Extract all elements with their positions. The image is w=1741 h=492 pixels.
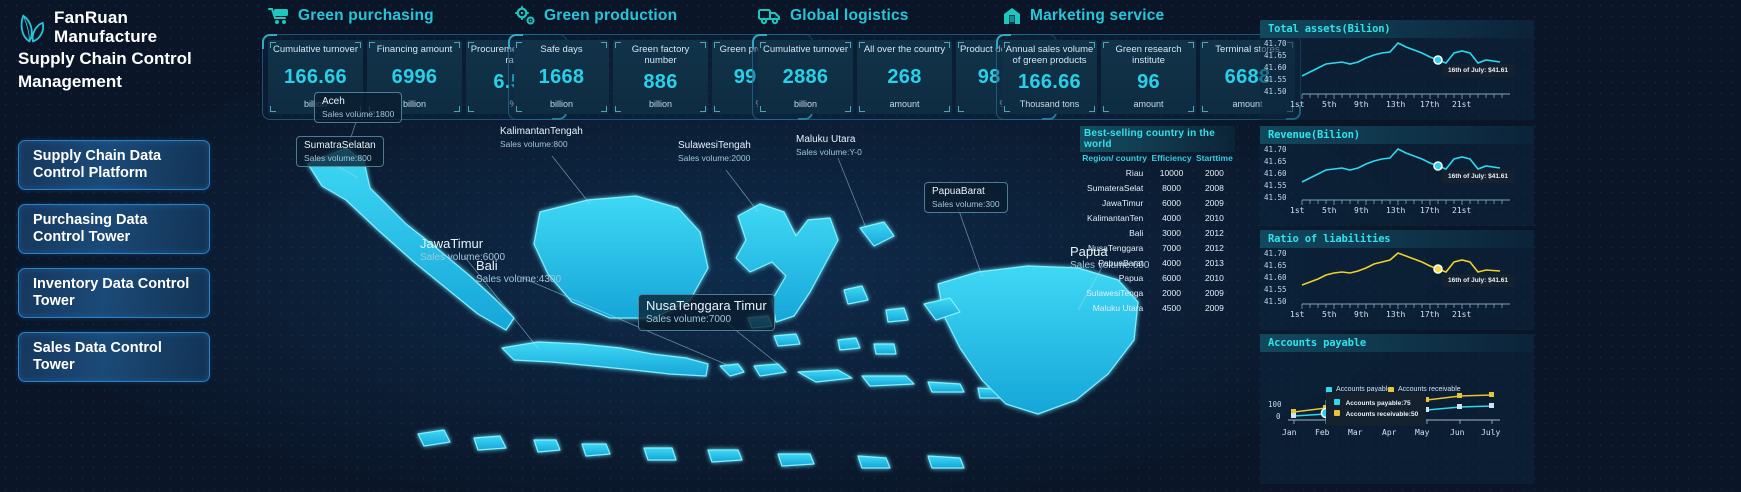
chart-panel-total-assets: Total assets(Bilion) 41.70 41.65 41.60 4… [1260, 20, 1534, 120]
cell-starttime: 2010 [1194, 210, 1235, 225]
kpi-value: 1668 [539, 66, 585, 89]
tooltip-line-payable: Accounts payable:75 [1334, 398, 1418, 409]
leaf-icon [18, 12, 48, 46]
kpi-group-title: Global logistics [790, 7, 909, 25]
map-label-maluku-utara[interactable]: Maluku Utara Sales volume:Y-0 [796, 134, 862, 157]
kpi-value: 886 [643, 71, 677, 94]
sidebar-item-supply-chain-data-control-platform[interactable]: Supply Chain Data Control Platform [18, 140, 210, 190]
cell-starttime: 2010 [1194, 270, 1235, 285]
y-tick-label: 41.65 [1264, 51, 1287, 60]
sidebar-item-inventory-data-control-tower[interactable]: Inventory Data Control Tower [18, 268, 210, 318]
y-tick-label: 41.60 [1264, 169, 1287, 178]
y-tick-label: 0 [1276, 412, 1281, 421]
chart-marker [1434, 162, 1442, 170]
cell-efficiency: 10000 [1149, 165, 1194, 180]
x-tick-label: 17th [1420, 206, 1439, 215]
sidebar-nav: Supply Chain Data Control Platform Purch… [18, 140, 210, 396]
gears-icon [514, 6, 536, 26]
chart-marker [1434, 56, 1442, 64]
kpi-value: 268 [887, 66, 921, 89]
chart-tooltip: 16th of July: $41.61 [1442, 170, 1514, 183]
table-row[interactable]: SumateraSelat 8000 2008 [1080, 180, 1235, 195]
kpi-label: All over the country [864, 45, 945, 56]
chart-marker [1434, 265, 1442, 273]
kpi-card-annual-sales-volume-green-products[interactable]: Annual sales volume of green products 16… [1002, 40, 1097, 114]
chart-tooltip: 16th of July: $41.61 [1442, 274, 1514, 287]
kpi-label: Green factory number [616, 45, 705, 67]
table-row[interactable]: Papua 6000 2010 [1080, 270, 1235, 285]
page-title-line1: Supply Chain Control [18, 49, 228, 69]
map-label-papuabarat[interactable]: PapuaBarat Sales volume:300 [924, 182, 1008, 213]
sidebar-item-label: Inventory Data Control Tower [33, 276, 200, 310]
cell-efficiency: 7000 [1149, 240, 1194, 255]
kpi-label: Safe days [540, 45, 582, 56]
x-tick-label: 1st [1290, 206, 1304, 215]
map-label-sub: Sales volume:800 [500, 139, 583, 150]
table-row[interactable]: Bali 3000 2012 [1080, 225, 1235, 240]
kpi-value: 166.66 [284, 66, 347, 89]
cell-starttime: 2008 [1194, 180, 1235, 195]
map-label-aceh[interactable]: Aceh Sales volume:1800 [314, 92, 402, 123]
map-label-name: KalimantanTengah [500, 126, 583, 139]
table-row[interactable]: NusaTenggara 7000 2012 [1080, 240, 1235, 255]
kpi-value: 96 [1137, 71, 1160, 94]
y-tick-label: 41.50 [1264, 297, 1287, 306]
shopping-cart-icon [268, 7, 290, 25]
map-label-name: SumatraSelatan [304, 140, 376, 153]
chart-title: Total assets(Bilion) [1260, 20, 1534, 38]
table-row[interactable]: Maluku Utara 4500 2009 [1080, 300, 1235, 315]
cell-region: Papua [1080, 270, 1149, 285]
cell-starttime: 2012 [1194, 240, 1235, 255]
brand-company-line2: Manufacture [54, 27, 157, 46]
map-label-name: Aceh [322, 96, 394, 109]
kpi-group-marketing-service: Marketing service Annual sales volume of… [996, 2, 1301, 120]
kpi-label: Green research institute [1104, 45, 1193, 67]
cell-efficiency: 3000 [1149, 225, 1194, 240]
cell-starttime: 2013 [1194, 255, 1235, 270]
chart-panel-revenue: Revenue(Bilion) 41.70 41.65 41.60 41.55 … [1260, 126, 1534, 226]
y-tick-label: 41.55 [1264, 181, 1287, 190]
x-tick-label: 13th [1386, 100, 1405, 109]
tooltip-swatch [1334, 410, 1340, 416]
y-tick-label: 41.55 [1264, 75, 1287, 84]
column-header-region: Region/ country [1080, 152, 1149, 165]
sidebar-item-sales-data-control-tower[interactable]: Sales Data Control Tower [18, 332, 210, 382]
sidebar-item-purchasing-data-control-tower[interactable]: Purchasing Data Control Tower [18, 204, 210, 254]
cell-region: NusaTenggara [1080, 240, 1149, 255]
cell-region: Maluku Utara [1080, 300, 1149, 315]
table-header-row: Region/ country Efficiency Starttime [1080, 152, 1235, 165]
map-label-sub: Sales volume:7000 [646, 314, 767, 327]
x-tick-label: 13th [1386, 310, 1405, 319]
kpi-group-header: Marketing service [996, 2, 1301, 30]
map-label-name: Bali [476, 258, 561, 274]
chart-tooltip: Accounts payable:75 Accounts receivable:… [1326, 392, 1426, 426]
x-tick-label: 5th [1322, 206, 1336, 215]
map-label-sub: Sales volume:300 [932, 199, 1000, 210]
kpi-label: Cumulative turnover [273, 45, 358, 56]
sidebar-item-label: Purchasing Data Control Tower [33, 212, 200, 246]
kpi-group-title: Marketing service [1030, 7, 1164, 25]
y-tick-label: 41.55 [1264, 285, 1287, 294]
cell-starttime: 2012 [1194, 225, 1235, 240]
chart-body[interactable]: Accounts payable Accounts receivable 100… [1260, 352, 1534, 484]
x-tick-label: Feb [1315, 428, 1329, 437]
column-header-starttime: Starttime [1194, 152, 1235, 165]
sidebar-item-label: Supply Chain Data Control Platform [33, 148, 200, 182]
warehouse-icon [1002, 6, 1022, 26]
x-tick-label: 17th [1420, 310, 1439, 319]
y-tick-label: 41.70 [1264, 145, 1287, 154]
kpi-card-safe-days[interactable]: Safe days 1668 billion [514, 40, 609, 114]
cell-efficiency: 4000 [1149, 210, 1194, 225]
map-label-sub: Sales volume:800 [304, 153, 376, 164]
kpi-card-all-over-the-country[interactable]: All over the country 268 amount [857, 40, 952, 114]
y-tick-label: 41.50 [1264, 193, 1287, 202]
page-title-line2: Management [18, 72, 228, 92]
x-tick-label: Jun [1450, 428, 1464, 437]
tooltip-text: Accounts payable:75 [1346, 400, 1411, 407]
map-label-sub: Sales volume:Y-0 [796, 147, 862, 158]
kpi-group-title: Green purchasing [298, 7, 434, 25]
cell-starttime: 2009 [1194, 285, 1235, 300]
map-label-name: Maluku Utara [796, 134, 862, 147]
x-tick-label: Mar [1348, 428, 1362, 437]
x-tick-label: 1st [1290, 310, 1304, 319]
map-label-name: JawaTimur [420, 236, 505, 252]
kpi-value: 2886 [783, 66, 829, 89]
x-tick-label: 5th [1322, 100, 1336, 109]
map-label-sulawesitengah[interactable]: SulawesiTengah Sales volume:2000 [678, 140, 751, 163]
tooltip-line-receivable: Accounts receivable:50 [1334, 409, 1418, 420]
map-label-sub: Sales volume:2000 [678, 153, 751, 164]
y-tick-label: 41.60 [1264, 273, 1287, 282]
chart-tooltip: 16th of July: $41.61 [1442, 64, 1514, 77]
map-label-sub: Sales volume:1800 [322, 109, 394, 120]
table-row[interactable]: Riau 10000 2000 [1080, 165, 1235, 180]
x-tick-label: 21st [1452, 206, 1471, 215]
cell-region: SulawesiTenga [1080, 285, 1149, 300]
map-label-sumatraselatan[interactable]: SumatraSelatan Sales volume:800 [296, 136, 384, 167]
chart-body[interactable]: 41.70 41.65 41.60 41.55 41.50 [1260, 248, 1534, 330]
brand-block: FanRuan Manufacture Supply Chain Control… [18, 8, 228, 91]
kpi-card-green-factory-number[interactable]: Green factory number 886 billion [613, 40, 708, 114]
cell-efficiency: 4500 [1149, 300, 1194, 315]
best-selling-table: Region/ country Efficiency Starttime Ria… [1080, 152, 1235, 315]
table-row[interactable]: PapuaBarat 4000 2013 [1080, 255, 1235, 270]
x-tick-label: 9th [1354, 310, 1368, 319]
chart-panel-accounts-payable: Accounts payable Accounts payable Accoun… [1260, 334, 1534, 484]
kpi-card-green-research-institute[interactable]: Green research institute 96 amount [1101, 40, 1196, 114]
y-tick-label: 41.65 [1264, 261, 1287, 270]
kpi-card-cumulative-turnover[interactable]: Cumulative turnover 2886 billion [758, 40, 853, 114]
table-row[interactable]: KalimantanTen 4000 2010 [1080, 210, 1235, 225]
cell-starttime: 2009 [1194, 300, 1235, 315]
kpi-value: 166.66 [1018, 71, 1081, 94]
best-selling-table-title: Best-selling country in the world [1080, 126, 1235, 152]
chart-panel-ratio-of-liabilities: Ratio of liabilities 41.70 41.65 41.60 4… [1260, 230, 1534, 330]
y-tick-label: 41.70 [1264, 249, 1287, 258]
chart-title: Revenue(Bilion) [1260, 126, 1534, 144]
cell-efficiency: 6000 [1149, 195, 1194, 210]
tooltip-text: Accounts receivable:50 [1346, 411, 1419, 418]
table-row[interactable]: JawaTimur 6000 2009 [1080, 195, 1235, 210]
cell-starttime: 2000 [1194, 165, 1235, 180]
cell-region: Riau [1080, 165, 1149, 180]
sidebar-item-label: Sales Data Control Tower [33, 340, 200, 374]
cell-starttime: 2009 [1194, 195, 1235, 210]
kpi-label: Financing amount [377, 45, 453, 56]
map-label-bali[interactable]: Bali Sales volume:4300 [476, 258, 561, 287]
chart-body[interactable]: 41.70 41.65 41.60 41.55 41.50 [1260, 38, 1534, 120]
y-tick-label: 100 [1268, 400, 1282, 409]
truck-icon [758, 7, 782, 25]
cell-region: PapuaBarat [1080, 255, 1149, 270]
x-tick-label: 13th [1386, 206, 1405, 215]
cell-region: Bali [1080, 225, 1149, 240]
map-label-sub: Sales volume:4300 [476, 274, 561, 287]
map-label-nusatenggara-timur[interactable]: NusaTenggara Timur Sales volume:7000 [638, 294, 775, 331]
chart-title: Accounts payable [1260, 334, 1534, 352]
column-header-efficiency: Efficiency [1149, 152, 1194, 165]
x-tick-label: 9th [1354, 100, 1368, 109]
cell-efficiency: 2000 [1149, 285, 1194, 300]
x-tick-label: 5th [1322, 310, 1336, 319]
x-tick-label: 1st [1290, 100, 1304, 109]
x-tick-label: 21st [1452, 310, 1471, 319]
x-tick-label: Jan [1282, 428, 1296, 437]
x-tick-label: 21st [1452, 100, 1471, 109]
cell-region: KalimantanTen [1080, 210, 1149, 225]
map-label-name: SulawesiTengah [678, 140, 751, 153]
kpi-label: Cumulative turnover [763, 45, 848, 56]
kpi-label: Annual sales volume of green products [1005, 45, 1094, 67]
y-tick-label: 41.60 [1264, 63, 1287, 72]
x-tick-label: 17th [1420, 100, 1439, 109]
cell-region: SumateraSelat [1080, 180, 1149, 195]
y-tick-label: 41.50 [1264, 87, 1287, 96]
kpi-group-title: Green production [544, 7, 677, 25]
y-tick-label: 41.65 [1264, 157, 1287, 166]
map-label-name: PapuaBarat [932, 186, 1000, 199]
chart-body[interactable]: 41.70 41.65 41.60 41.55 41.50 [1260, 144, 1534, 226]
x-tick-label: Apr [1382, 428, 1396, 437]
tooltip-swatch [1334, 399, 1340, 405]
kpi-value: 6996 [392, 66, 438, 89]
x-tick-label: 9th [1354, 206, 1368, 215]
map-label-kalimantantengah[interactable]: KalimantanTengah Sales volume:800 [500, 126, 583, 149]
left-panel: FanRuan Manufacture Supply Chain Control… [0, 0, 232, 492]
brand-company-line1: FanRuan [54, 8, 157, 27]
cell-efficiency: 4000 [1149, 255, 1194, 270]
table-row[interactable]: SulawesiTenga 2000 2009 [1080, 285, 1235, 300]
map-label-name: NusaTenggara Timur [646, 298, 767, 314]
chart-title: Ratio of liabilities [1260, 230, 1534, 248]
cell-efficiency: 6000 [1149, 270, 1194, 285]
cell-region: JawaTimur [1080, 195, 1149, 210]
x-tick-label: July [1481, 428, 1500, 437]
x-tick-label: May [1415, 428, 1429, 437]
best-selling-table-panel: Best-selling country in the world Region… [1080, 126, 1235, 315]
y-tick-label: 41.70 [1264, 39, 1287, 48]
cell-efficiency: 8000 [1149, 180, 1194, 195]
